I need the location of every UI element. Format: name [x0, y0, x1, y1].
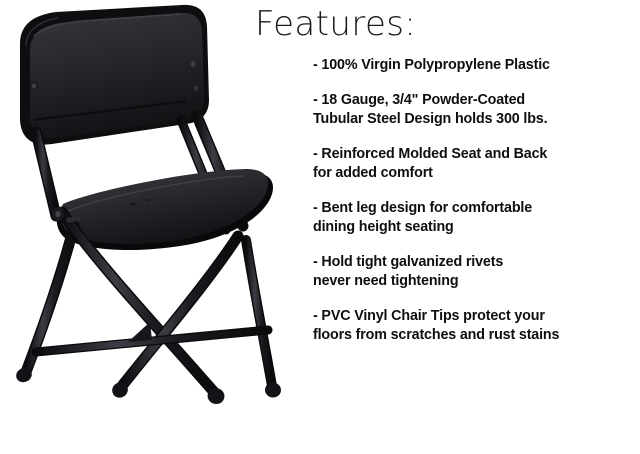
feature-item-steel-frame: - 18 Gauge, 3/4" Powder-Coated Tubular S…	[313, 91, 637, 129]
feature-line: never need tightening	[313, 272, 637, 291]
features-list: - 100% Virgin Polypropylene Plastic - 18…	[313, 56, 637, 345]
product-feature-page: Features: - 100% Virgin Polypropylene Pl…	[0, 0, 640, 454]
feature-line: - 100% Virgin Polypropylene Plastic	[313, 56, 637, 75]
vinyl-chair-tips	[14, 365, 282, 406]
feature-item-chair-tips: - PVC Vinyl Chair Tips protect your floo…	[313, 307, 637, 345]
feature-item-molded-seat: - Reinforced Molded Seat and Back for ad…	[313, 145, 637, 183]
features-panel: Features: - 100% Virgin Polypropylene Pl…	[250, 0, 640, 454]
feature-item-material: - 100% Virgin Polypropylene Plastic	[313, 56, 637, 75]
feature-line: dining height seating	[313, 218, 637, 237]
feature-line: for added comfort	[313, 164, 637, 183]
feature-line: Tubular Steel Design holds 300 lbs.	[313, 110, 637, 129]
feature-item-rivets: - Hold tight galvanized rivets never nee…	[313, 253, 637, 291]
feature-line: - 18 Gauge, 3/4" Powder-Coated	[313, 91, 637, 110]
feature-line: - Reinforced Molded Seat and Back	[313, 145, 637, 164]
feature-line: - Bent leg design for comfortable	[313, 199, 637, 218]
feature-line: - Hold tight galvanized rivets	[313, 253, 637, 272]
feature-item-bent-leg: - Bent leg design for comfortable dining…	[313, 199, 637, 237]
features-heading: Features:	[255, 7, 416, 43]
feature-line: floors from scratches and rust stains	[313, 326, 637, 345]
feature-line: - PVC Vinyl Chair Tips protect your	[313, 307, 637, 326]
